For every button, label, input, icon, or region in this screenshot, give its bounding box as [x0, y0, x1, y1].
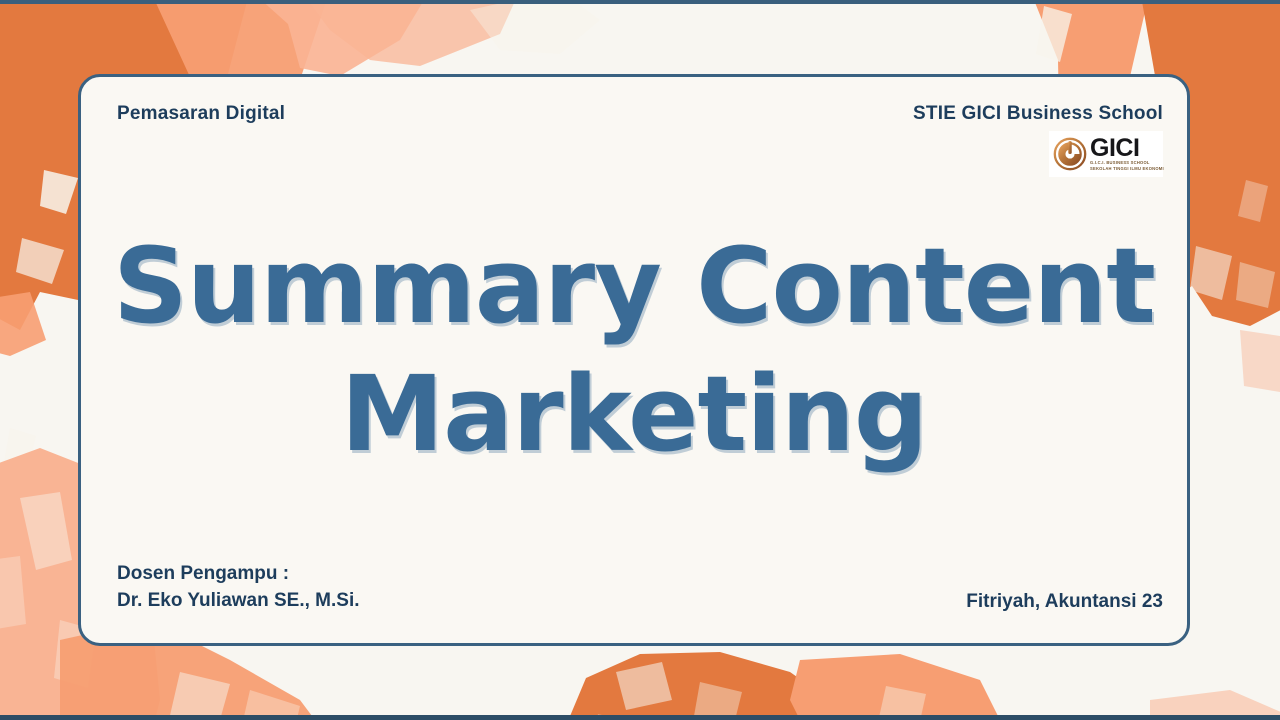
gici-logo: GICI G.I.C.I. BUSINESS SCHOOL SEKOLAH TI… — [1049, 131, 1163, 177]
top-blue-rule — [0, 0, 1280, 4]
gici-subtitle-line2: SEKOLAH TINGGI ILMU EKONOMI — [1090, 166, 1164, 171]
presentation-slide: Pemasaran Digital STIE GICI Business Sch… — [0, 0, 1280, 720]
bottom-blue-rule — [0, 715, 1280, 720]
slide-card: Pemasaran Digital STIE GICI Business Sch… — [78, 74, 1190, 646]
lecturer-block: Dosen Pengampu : Dr. Eko Yuliawan SE., M… — [117, 560, 360, 615]
gici-logo-text: GICI G.I.C.I. BUSINESS SCHOOL SEKOLAH TI… — [1090, 137, 1164, 170]
title-line-1: Summary Content — [81, 223, 1187, 351]
gici-wordmark: GICI — [1090, 137, 1164, 160]
course-name: Pemasaran Digital — [117, 103, 285, 125]
slide-title: Summary Content Marketing — [81, 223, 1187, 479]
gici-spiral-icon — [1051, 135, 1089, 173]
student-name: Fitriyah, Akuntansi 23 — [966, 591, 1163, 613]
institution-name: STIE GICI Business School — [913, 103, 1163, 125]
title-line-2: Marketing — [81, 351, 1187, 479]
lecturer-label: Dosen Pengampu : — [117, 560, 360, 588]
lecturer-name: Dr. Eko Yuliawan SE., M.Si. — [117, 587, 360, 615]
